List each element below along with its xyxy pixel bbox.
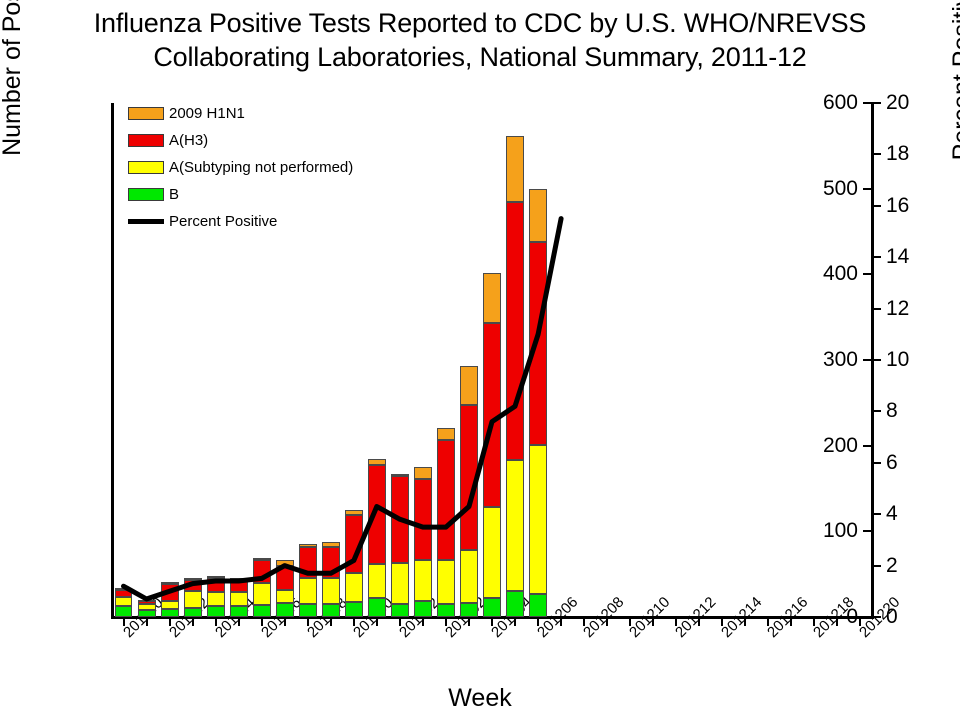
bar-segment[interactable] — [322, 604, 340, 617]
bar-segment[interactable] — [161, 601, 179, 610]
bar-segment[interactable] — [276, 590, 294, 604]
bar-segment[interactable] — [437, 560, 455, 604]
bar-segment[interactable] — [138, 600, 156, 602]
bar-segment[interactable] — [138, 604, 156, 610]
y-tick-label-right: 14 — [886, 245, 909, 269]
bar-segment[interactable] — [345, 602, 363, 617]
bar-segment[interactable] — [437, 604, 455, 617]
legend-color-swatch — [128, 188, 164, 201]
bar-segment[interactable] — [368, 459, 386, 465]
bar-segment[interactable] — [184, 580, 202, 591]
bar-segment[interactable] — [483, 323, 501, 507]
bar-segment[interactable] — [253, 583, 271, 605]
bar-group[interactable] — [391, 103, 409, 617]
bar-segment[interactable] — [322, 547, 340, 579]
title-line-2: Collaborating Laboratories, National Sum… — [0, 40, 960, 74]
y-tick-left — [863, 273, 872, 275]
legend-color-swatch — [128, 134, 164, 147]
bar-segment[interactable] — [276, 566, 294, 590]
y-tick-label-right: 10 — [886, 348, 909, 372]
y-tick-right — [872, 102, 881, 104]
bar-segment[interactable] — [253, 605, 271, 617]
bar-segment[interactable] — [414, 467, 432, 479]
bar-segment[interactable] — [483, 507, 501, 598]
bar-group[interactable] — [483, 103, 501, 617]
bar-segment[interactable] — [207, 592, 225, 606]
bar-segment[interactable] — [368, 598, 386, 617]
bar-segment[interactable] — [506, 136, 524, 202]
y-tick-right — [872, 205, 881, 207]
y-tick-label-left: 300 — [823, 348, 858, 372]
y-tick-label-left: 400 — [823, 262, 858, 286]
y-tick-right — [872, 359, 881, 361]
legend-item-label: A(H3) — [169, 132, 208, 149]
y-tick-left — [863, 530, 872, 532]
y-axis-label-right: Percent Positive — [948, 0, 960, 220]
bar-segment[interactable] — [483, 598, 501, 617]
y-tick-left — [863, 445, 872, 447]
bar-segment[interactable] — [253, 560, 271, 582]
y-tick-right — [872, 513, 881, 515]
x-axis-label: Week — [0, 684, 960, 713]
bar-segment[interactable] — [391, 474, 409, 476]
bar-segment[interactable] — [184, 591, 202, 607]
bar-segment[interactable] — [230, 578, 248, 580]
bar-segment[interactable] — [276, 560, 294, 566]
y-tick-left — [863, 188, 872, 190]
bar-segment[interactable] — [483, 273, 501, 324]
bar-group[interactable] — [529, 103, 547, 617]
legend-item: 2009 H1N1 — [128, 100, 358, 127]
y-tick-label-right: 18 — [886, 142, 909, 166]
bar-group[interactable] — [506, 103, 524, 617]
y-tick-right — [872, 410, 881, 412]
y-tick-label-left: 600 — [823, 91, 858, 115]
bar-segment[interactable] — [230, 592, 248, 606]
y-tick-label-right: 2 — [886, 554, 898, 578]
chart-page: Influenza Positive Tests Reported to CDC… — [0, 0, 960, 720]
legend-line-marker — [128, 219, 164, 224]
bar-segment[interactable] — [276, 603, 294, 617]
legend-item-label: A(Subtyping not performed) — [169, 159, 353, 176]
bar-segment[interactable] — [299, 604, 317, 617]
bar-segment[interactable] — [345, 510, 363, 515]
bar-segment[interactable] — [184, 608, 202, 617]
bar-segment[interactable] — [391, 476, 409, 563]
title-line-1: Influenza Positive Tests Reported to CDC… — [0, 6, 960, 40]
bar-segment[interactable] — [437, 428, 455, 440]
legend-color-swatch — [128, 161, 164, 174]
y-tick-right — [872, 565, 881, 567]
bar-segment[interactable] — [460, 603, 478, 617]
legend: 2009 H1N1A(H3)A(Subtyping not performed)… — [128, 100, 358, 235]
bar-group[interactable] — [414, 103, 432, 617]
y-tick-label-left: 100 — [823, 519, 858, 543]
bar-segment[interactable] — [299, 578, 317, 605]
bar-segment[interactable] — [207, 578, 225, 593]
bar-segment[interactable] — [368, 564, 386, 598]
bar-segment[interactable] — [115, 590, 133, 598]
bar-segment[interactable] — [345, 573, 363, 602]
y-tick-label-left: 500 — [823, 177, 858, 201]
y-tick-right — [872, 256, 881, 258]
bar-segment[interactable] — [529, 594, 547, 617]
bar-segment[interactable] — [161, 609, 179, 617]
bar-segment[interactable] — [529, 242, 547, 445]
y-tick-label-left: 200 — [823, 434, 858, 458]
legend-item: B — [128, 181, 358, 208]
bar-segment[interactable] — [460, 366, 478, 405]
legend-item-label: Percent Positive — [169, 213, 277, 230]
bar-segment[interactable] — [414, 601, 432, 617]
bar-segment[interactable] — [414, 560, 432, 600]
bar-segment[interactable] — [138, 610, 156, 617]
bar-segment[interactable] — [207, 576, 225, 578]
legend-item: A(H3) — [128, 127, 358, 154]
bar-segment[interactable] — [299, 544, 317, 547]
bar-segment[interactable] — [207, 606, 225, 617]
bar-segment[interactable] — [115, 588, 133, 590]
bar-segment[interactable] — [414, 479, 432, 560]
bar-segment[interactable] — [161, 582, 179, 585]
bar-segment[interactable] — [322, 542, 340, 547]
y-tick-left — [863, 359, 872, 361]
bar-group[interactable] — [460, 103, 478, 617]
bar-segment[interactable] — [368, 465, 386, 564]
legend-color-swatch — [128, 107, 164, 120]
legend-item-label: 2009 H1N1 — [169, 105, 245, 122]
y-tick-right — [872, 308, 881, 310]
bar-segment[interactable] — [115, 597, 133, 606]
bar-segment[interactable] — [529, 445, 547, 594]
y-axis-label-left: Number of Positive Specimens — [0, 0, 27, 175]
bar-segment[interactable] — [230, 579, 248, 592]
bar-segment[interactable] — [345, 515, 363, 573]
page-title: Influenza Positive Tests Reported to CDC… — [0, 6, 960, 74]
bar-segment[interactable] — [230, 606, 248, 617]
y-tick-right — [872, 462, 881, 464]
y-tick-label-right: 12 — [886, 297, 909, 321]
y-tick-left — [863, 102, 872, 104]
bar-group[interactable] — [368, 103, 386, 617]
bar-segment[interactable] — [529, 189, 547, 242]
bar-segment[interactable] — [506, 202, 524, 461]
y-tick-label-right: 6 — [886, 451, 898, 475]
bar-segment[interactable] — [506, 460, 524, 591]
bar-segment[interactable] — [184, 578, 202, 580]
bar-segment[interactable] — [460, 405, 478, 551]
bar-segment[interactable] — [391, 563, 409, 604]
y-tick-label-right: 4 — [886, 502, 898, 526]
legend-item: A(Subtyping not performed) — [128, 154, 358, 181]
y-tick-label-right: 8 — [886, 399, 898, 423]
legend-item-label: B — [169, 186, 179, 203]
bar-segment[interactable] — [115, 606, 133, 617]
bar-segment[interactable] — [253, 558, 271, 561]
bar-segment[interactable] — [161, 584, 179, 600]
bar-segment[interactable] — [391, 604, 409, 617]
legend-item: Percent Positive — [128, 208, 358, 235]
bar-segment[interactable] — [437, 440, 455, 561]
y-tick-label-right: 16 — [886, 194, 909, 218]
bar-segment[interactable] — [299, 547, 317, 578]
bar-segment[interactable] — [322, 578, 340, 604]
bar-group[interactable] — [437, 103, 455, 617]
bar-segment[interactable] — [506, 591, 524, 617]
y-tick-right — [872, 153, 881, 155]
bar-segment[interactable] — [460, 550, 478, 603]
y-tick-label-right: 20 — [886, 91, 909, 115]
